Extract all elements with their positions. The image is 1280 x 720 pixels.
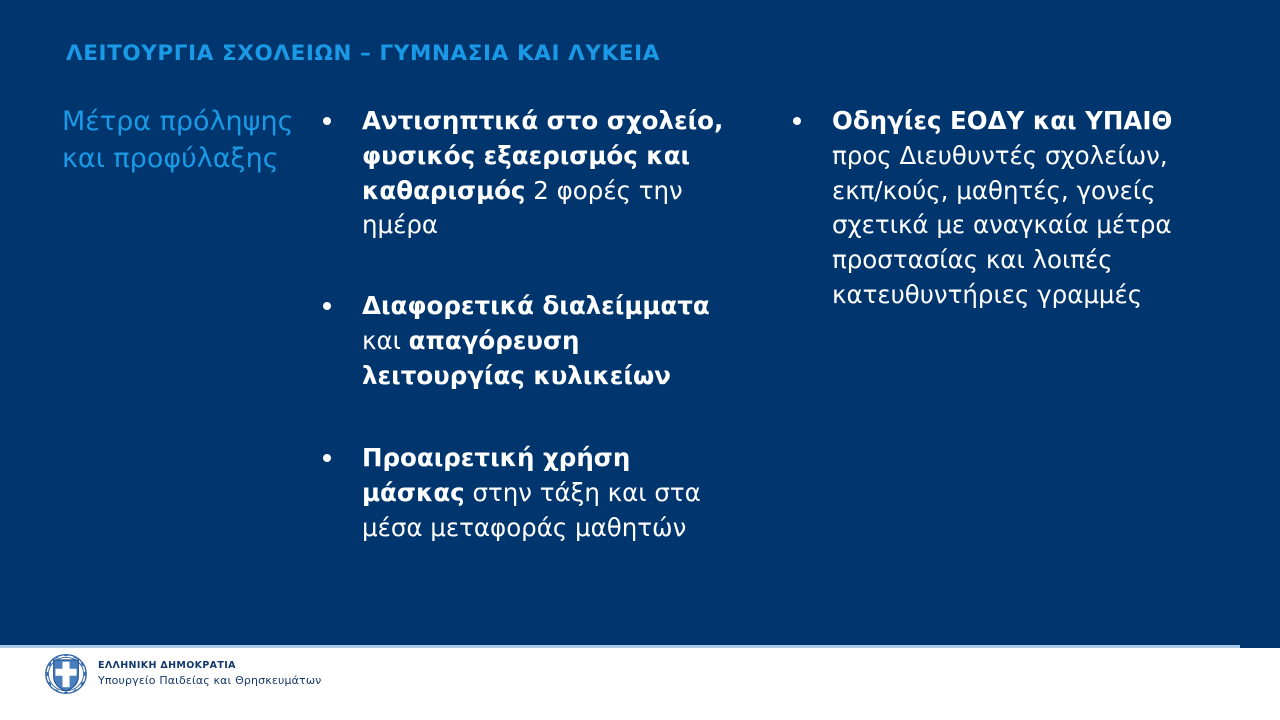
list-item-plain-text: προς Διευθυντές σχολείων, εκπ/κούς, μαθη… <box>832 141 1172 309</box>
bullet-column-right: Οδηγίες ΕΟΔΥ και ΥΠΑΙΘ προς Διευθυντές σ… <box>788 104 1198 313</box>
list-item-text: Διαφορετικά διαλείμματα και απαγόρευση λ… <box>362 289 738 393</box>
list-item: Οδηγίες ΕΟΔΥ και ΥΠΑΙΘ προς Διευθυντές σ… <box>788 104 1198 313</box>
list-item-bold-text: Διαφορετικά διαλείμματα <box>362 291 710 320</box>
list-item-text: Αντισηπτικά στο σχολείο, φυσικός εξαερισ… <box>362 104 738 243</box>
footer-ministry: Υπουργείο Παιδείας και Θρησκευμάτων <box>98 674 321 688</box>
list-item-plain-text: και <box>362 326 409 355</box>
footer-logo: ΕΛΛΗΝΙΚΗ ΔΗΜΟΚΡΑΤΙΑ Υπουργείο Παιδείας κ… <box>44 652 321 696</box>
list-item-text: Οδηγίες ΕΟΔΥ και ΥΠΑΙΘ προς Διευθυντές σ… <box>832 104 1198 313</box>
footer-organization: ΕΛΛΗΝΙΚΗ ΔΗΜΟΚΡΑΤΙΑ <box>98 660 321 672</box>
footer-text-block: ΕΛΛΗΝΙΚΗ ΔΗΜΟΚΡΑΤΙΑ Υπουργείο Παιδείας κ… <box>98 660 321 688</box>
bullet-dot-icon <box>323 302 331 310</box>
list-item: Διαφορετικά διαλείμματα και απαγόρευση λ… <box>318 289 738 393</box>
list-item-text: Προαιρετική χρήση μάσκας στην τάξη και σ… <box>362 441 738 545</box>
bullet-dot-icon <box>323 117 331 125</box>
bullet-dot-icon <box>793 117 801 125</box>
hellenic-republic-coat-of-arms-icon <box>44 652 88 696</box>
slide-canvas: ΛΕΙΤΟΥΡΓΙΑ ΣΧΟΛΕΙΩΝ – ΓΥΜΝΑΣΙΑ ΚΑΙ ΛΥΚΕΙ… <box>0 0 1280 720</box>
list-item: Αντισηπτικά στο σχολείο, φυσικός εξαερισ… <box>318 104 738 243</box>
bullet-column-middle: Αντισηπτικά στο σχολείο, φυσικός εξαερισ… <box>318 104 738 546</box>
list-item: Προαιρετική χρήση μάσκας στην τάξη και σ… <box>318 441 738 545</box>
section-heading: Μέτρα πρόληψης και προφύλαξης <box>62 104 312 177</box>
list-item-bold-text-2: απαγόρευση λειτουργίας κυλικείων <box>362 326 671 390</box>
bullet-dot-icon <box>323 454 331 462</box>
page-title: ΛΕΙΤΟΥΡΓΙΑ ΣΧΟΛΕΙΩΝ – ΓΥΜΝΑΣΙΑ ΚΑΙ ΛΥΚΕΙ… <box>66 41 660 67</box>
list-item-bold-text: Οδηγίες ΕΟΔΥ και ΥΠΑΙΘ <box>832 106 1172 135</box>
